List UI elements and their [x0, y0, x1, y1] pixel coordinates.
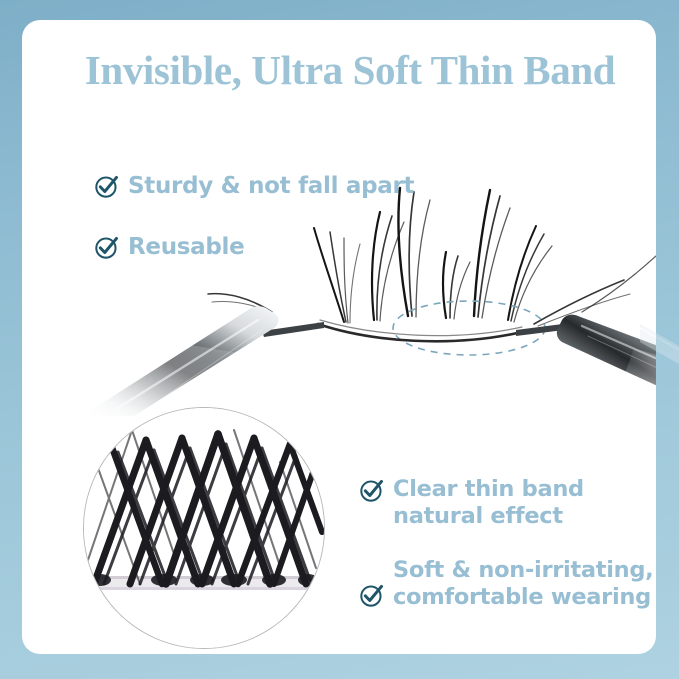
feature-item-sturdy: Sturdy & not fall apart — [94, 172, 414, 200]
product-infographic: Invisible, Ultra Soft Thin Band — [0, 0, 679, 679]
page-title: Invisible, Ultra Soft Thin Band — [70, 46, 630, 94]
check-circle-icon — [359, 583, 384, 608]
feature-label: Clear thin band natural effect — [393, 476, 584, 531]
check-circle-icon — [94, 174, 119, 199]
feature-item-soft: Soft & non-irritating, comfortable weari… — [359, 557, 653, 612]
tweezer-right — [516, 315, 656, 416]
lash-fibers — [208, 188, 656, 326]
feature-item-reusable: Reusable — [94, 233, 244, 261]
check-circle-icon — [94, 235, 119, 260]
check-circle-icon — [359, 478, 384, 503]
feature-item-clear-band: Clear thin band natural effect — [359, 476, 584, 531]
feature-label: Reusable — [128, 233, 244, 261]
content-card: Invisible, Ultra Soft Thin Band — [22, 20, 656, 654]
lash-band-strip — [318, 320, 522, 341]
feature-label: Soft & non-irritating, comfortable weari… — [393, 557, 653, 612]
tweezer-left — [78, 306, 324, 416]
feature-label: Sturdy & not fall apart — [128, 172, 414, 200]
band-closeup-inset — [84, 408, 324, 648]
hero-product-image — [22, 116, 656, 416]
dashed-ellipse-band-highlight — [393, 301, 545, 355]
